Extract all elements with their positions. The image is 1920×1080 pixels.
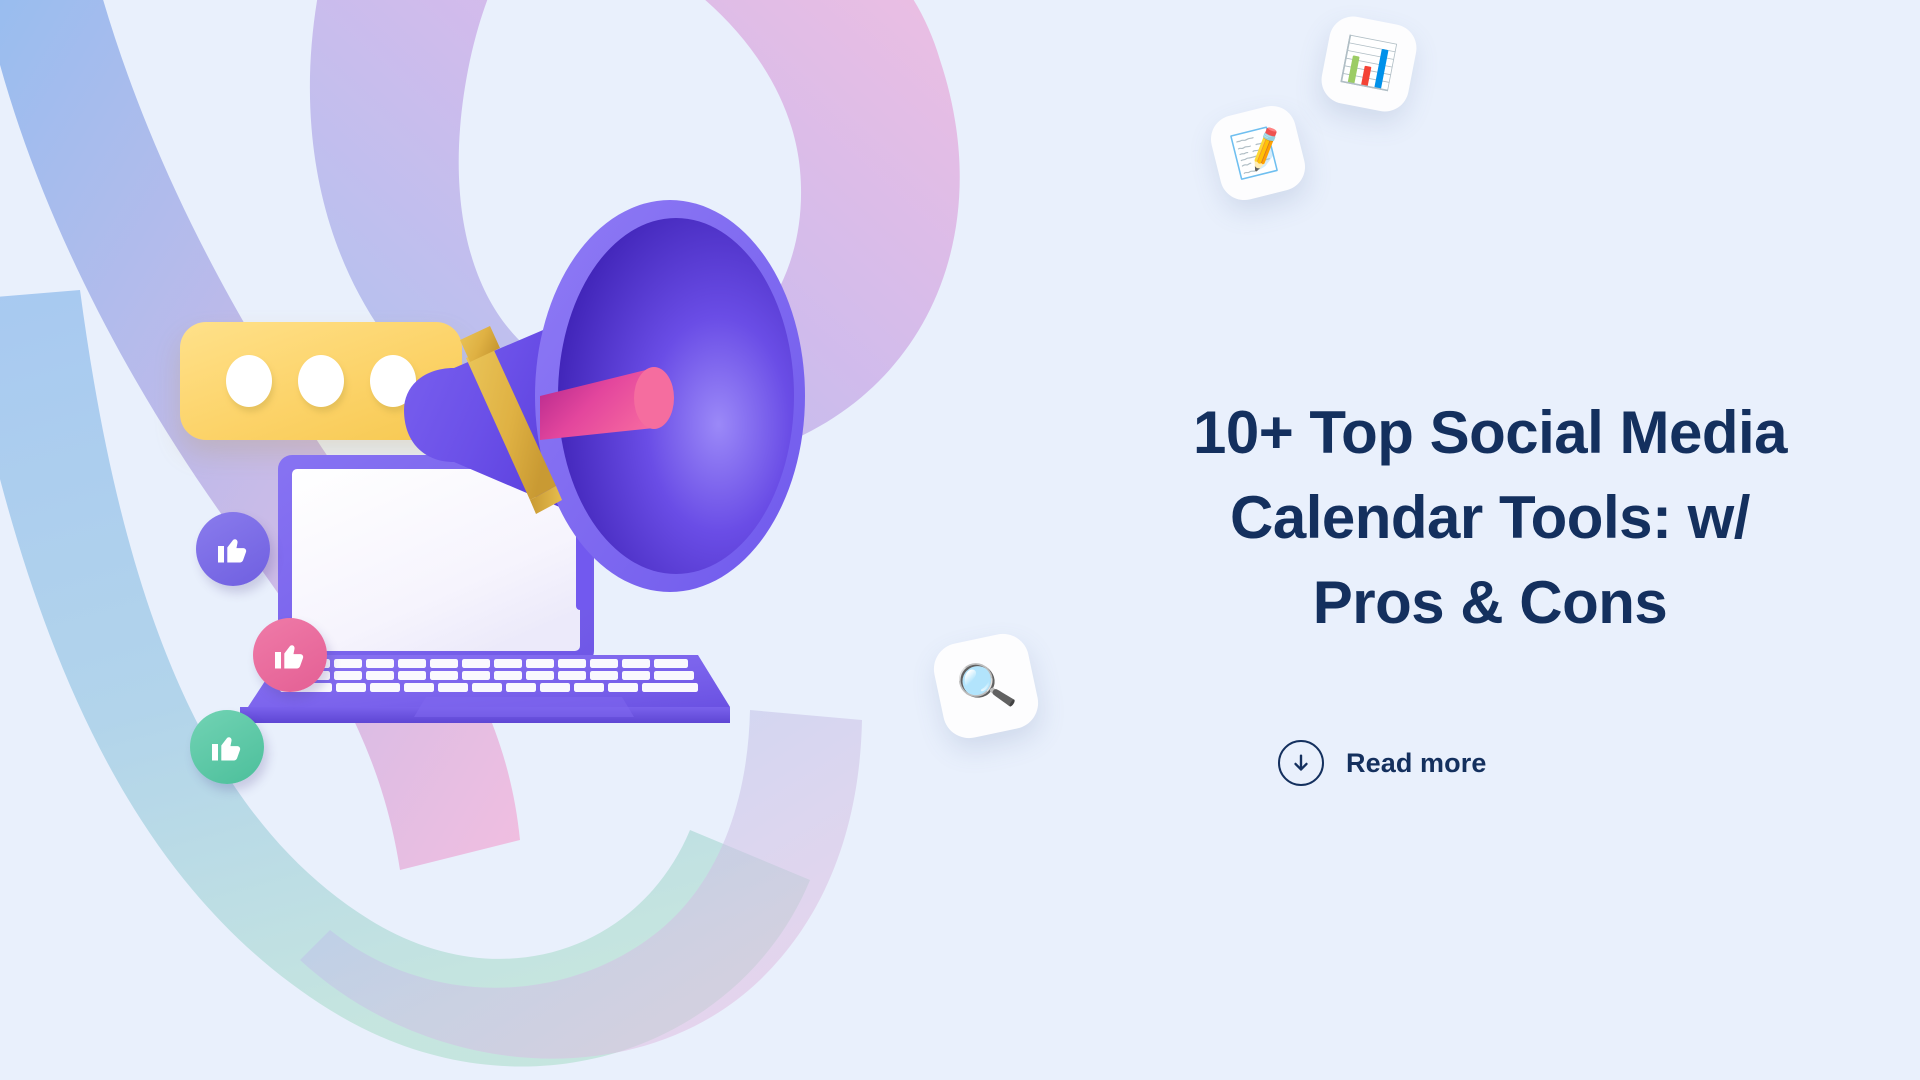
speech-bubble-dot bbox=[226, 355, 272, 407]
thumbs-up-pink bbox=[253, 618, 327, 692]
thumbs-up-icon bbox=[209, 729, 245, 765]
content-panel: 📝 📊 🔍 10+ Top Social Media Calendar Tool… bbox=[1060, 0, 1920, 1080]
thumbs-up-green bbox=[190, 710, 264, 784]
thumbs-up-purple bbox=[196, 512, 270, 586]
page-title-line-1: 10+ Top Social Media bbox=[1193, 399, 1787, 466]
page-title: 10+ Top Social Media Calendar Tools: w/ … bbox=[1060, 390, 1920, 646]
read-more-label: Read more bbox=[1346, 748, 1486, 779]
laptop-trackpad bbox=[414, 697, 634, 717]
arrow-down-glyph bbox=[1290, 752, 1312, 774]
thumbs-up-icon bbox=[272, 637, 308, 673]
bar-chart-icon: 📊 bbox=[1338, 37, 1400, 91]
megaphone-illustration bbox=[380, 190, 850, 620]
arrow-down-circle-icon bbox=[1278, 740, 1324, 786]
memo-icon: 📝 bbox=[1228, 126, 1289, 179]
page-title-line-3: Pros & Cons bbox=[1313, 569, 1668, 636]
bar-chart-card: 📊 bbox=[1317, 12, 1420, 115]
page-title-line-2: Calendar Tools: w/ bbox=[1230, 484, 1750, 551]
thumbs-up-icon bbox=[215, 531, 251, 567]
memo-card: 📝 bbox=[1206, 101, 1310, 205]
social-media-megaphone-laptop-illustration bbox=[0, 0, 1060, 1080]
megaphone-mouthpiece-cap bbox=[634, 367, 674, 429]
social-media-blog-banner: 📝 📊 🔍 10+ Top Social Media Calendar Tool… bbox=[0, 0, 1920, 1080]
laptop-keys bbox=[280, 659, 698, 692]
speech-bubble-dot bbox=[298, 355, 344, 407]
read-more-button[interactable]: Read more bbox=[1278, 740, 1486, 786]
magnifying-glass-icon: 🔍 bbox=[953, 658, 1019, 715]
